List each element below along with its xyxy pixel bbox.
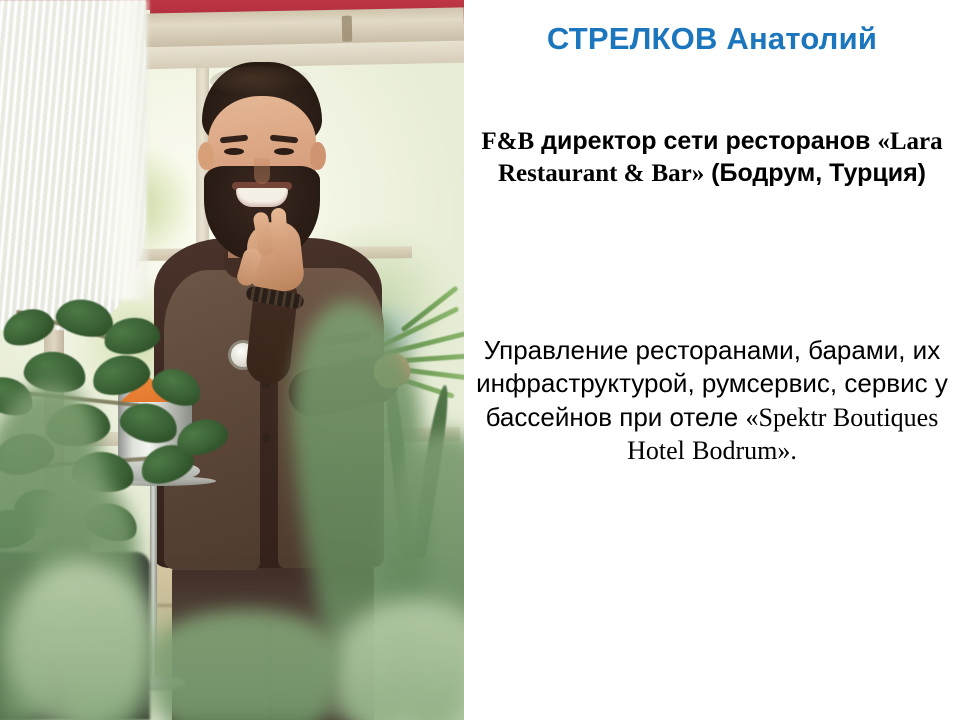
subtitle-cyrillic-3: (Бодрум, Турция) [704, 159, 926, 187]
nose [254, 158, 270, 184]
subtitle-cyrillic-1: директор сети [534, 127, 718, 155]
finger-2 [271, 208, 289, 259]
waistcoat-button-2 [262, 434, 270, 442]
beam-peg [342, 16, 352, 42]
subtitle-latin-3: Bar» [651, 160, 704, 187]
speaker-role-subtitle: F&B директор сети ресторанов «Lara Resta… [470, 126, 954, 190]
speaker-photo [0, 0, 464, 720]
presentation-slide: СТРЕЛКОВ Анатолий F&B директор сети рест… [0, 0, 960, 720]
speaker-name-title: СТРЕЛКОВ Анатолий [464, 22, 960, 56]
body-line-4-cyrillic: при отеле [619, 402, 745, 432]
text-panel: СТРЕЛКОВ Анатолий F&B директор сети рест… [464, 0, 960, 720]
eye-right [274, 148, 294, 155]
responsibilities-paragraph: Управление ресторанами, барами, их инфра… [470, 334, 954, 467]
eye-left [224, 148, 244, 155]
foreground-haze [0, 570, 464, 720]
smiling-mouth [236, 188, 288, 207]
body-line-5-latin: Bodrum». [692, 436, 797, 465]
ear-right [310, 142, 326, 170]
body-line-1: Управление ресторанами, [484, 335, 801, 365]
subtitle-cyrillic-2: ресторанов [726, 127, 878, 155]
subtitle-latin-1: F&B [481, 128, 534, 155]
ear-left [198, 142, 214, 170]
